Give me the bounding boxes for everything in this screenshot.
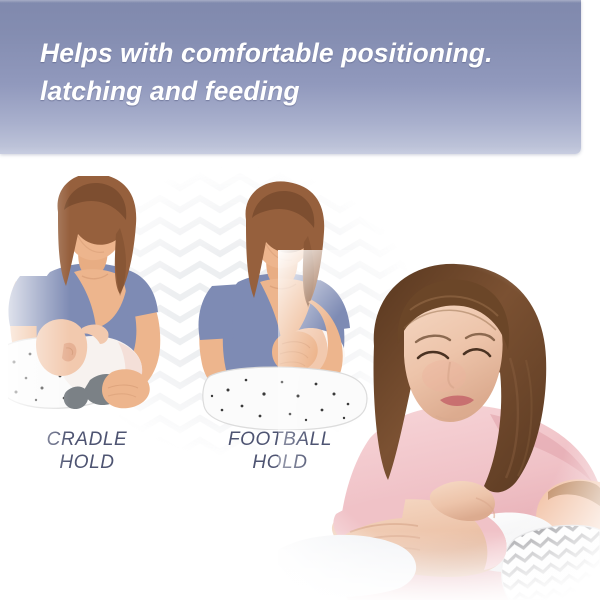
- nursing-mother-photo: [278, 250, 600, 600]
- headline-text: Helps with comfortable positioning. latc…: [40, 34, 560, 110]
- product-infographic: CRADLE HOLD: [0, 0, 600, 600]
- illustration-cradle-hold: [8, 176, 178, 426]
- header-banner: Helps with comfortable positioning. latc…: [0, 0, 581, 154]
- label-cradle-hold: CRADLE HOLD: [2, 428, 172, 474]
